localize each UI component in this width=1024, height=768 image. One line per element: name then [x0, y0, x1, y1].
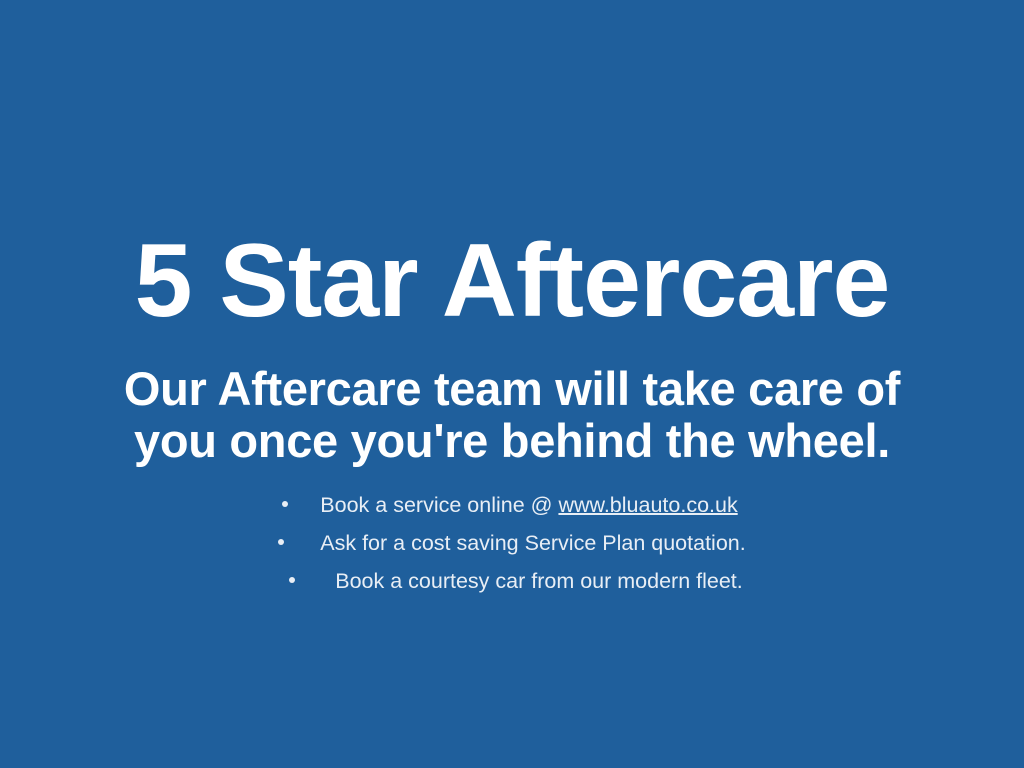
bullet-text: Book a service online @ www.bluauto.co.u…: [320, 486, 737, 524]
bullet-dot-icon: [289, 577, 295, 583]
slide-canvas: 5 Star Aftercare Our Aftercare team will…: [0, 0, 1024, 768]
subheading-line-1: Our Aftercare team will take care of: [40, 363, 984, 415]
page-title: 5 Star Aftercare: [0, 226, 1024, 336]
bullet-text-lead: Book a service online @: [320, 493, 558, 517]
bullet-text: Ask for a cost saving Service Plan quota…: [320, 524, 745, 562]
bullet-dot-icon: [278, 539, 284, 545]
subheading: Our Aftercare team will take care of you…: [40, 363, 984, 467]
website-link[interactable]: www.bluauto.co.uk: [558, 493, 737, 517]
bullet-text: Book a courtesy car from our modern flee…: [335, 562, 742, 600]
bullet-list: Book a service online @ www.bluauto.co.u…: [0, 486, 1024, 600]
subheading-line-2: you once you're behind the wheel.: [40, 415, 984, 467]
list-item: Book a courtesy car from our modern flee…: [0, 562, 1024, 600]
list-item: Ask for a cost saving Service Plan quota…: [0, 524, 1024, 562]
bullet-dot-icon: [282, 501, 288, 507]
list-item: Book a service online @ www.bluauto.co.u…: [0, 486, 1024, 524]
